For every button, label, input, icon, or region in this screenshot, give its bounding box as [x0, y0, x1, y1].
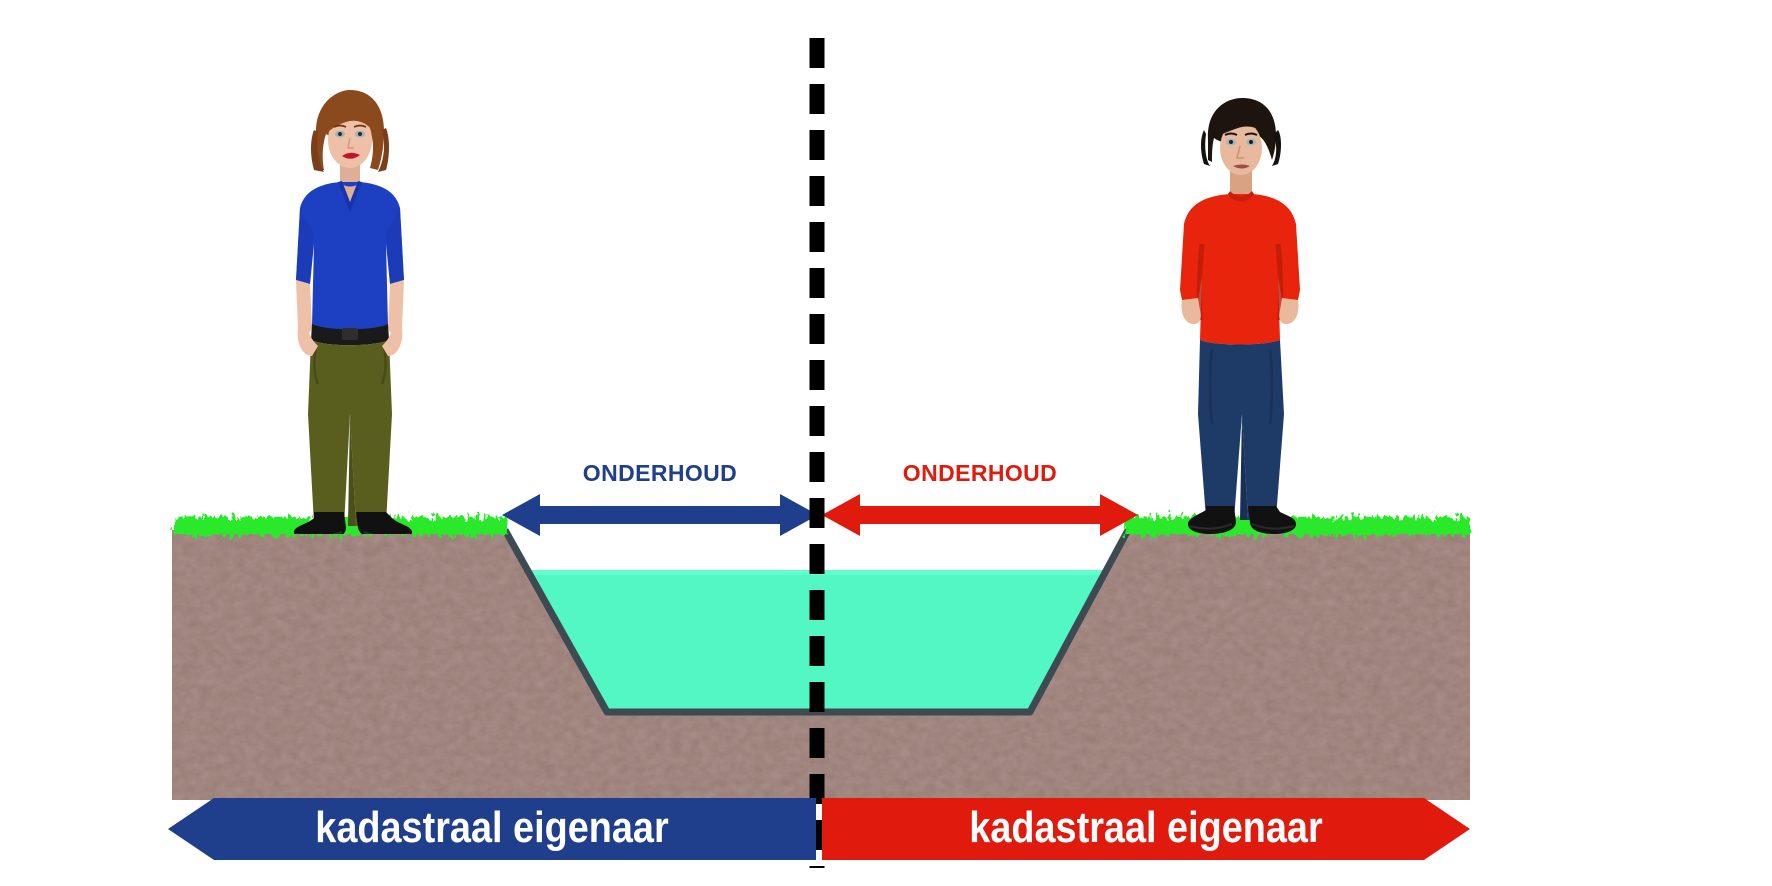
ownership-label-left: kadastraal eigenaar — [213, 798, 770, 860]
maintenance-zone-left: ONDERHOUD — [500, 462, 820, 542]
arm-left-1 — [296, 280, 312, 334]
landowner-right — [1168, 94, 1308, 534]
maintenance-arrow-left — [500, 492, 820, 538]
shoe-left-2 — [356, 512, 412, 534]
maintenance-zone-right: ONDERHOUD — [820, 462, 1140, 542]
shoe-right-2 — [1248, 506, 1296, 534]
ownership-banner-left: kadastraal eigenaar — [168, 798, 816, 860]
hand-right-1 — [1182, 298, 1201, 324]
arm-left-2 — [388, 280, 404, 334]
landowner-left — [278, 84, 418, 534]
ditch-cross-section — [0, 0, 1772, 886]
ownership-label-right: kadastraal eigenaar — [867, 798, 1424, 860]
maintenance-label-right: ONDERHOUD — [820, 460, 1140, 487]
property-boundary-dashed-line — [806, 38, 828, 868]
shoe-left-1 — [294, 512, 346, 534]
maintenance-arrow-right — [820, 492, 1140, 538]
ownership-banner-right: kadastraal eigenaar — [822, 798, 1470, 860]
hand-right-2 — [1279, 298, 1298, 324]
maintenance-label-left: ONDERHOUD — [500, 460, 820, 487]
shoe-right-1 — [1188, 506, 1236, 534]
diagram-canvas: ONDERHOUD ONDERHOUD kadastraal eigenaar … — [0, 0, 1772, 886]
